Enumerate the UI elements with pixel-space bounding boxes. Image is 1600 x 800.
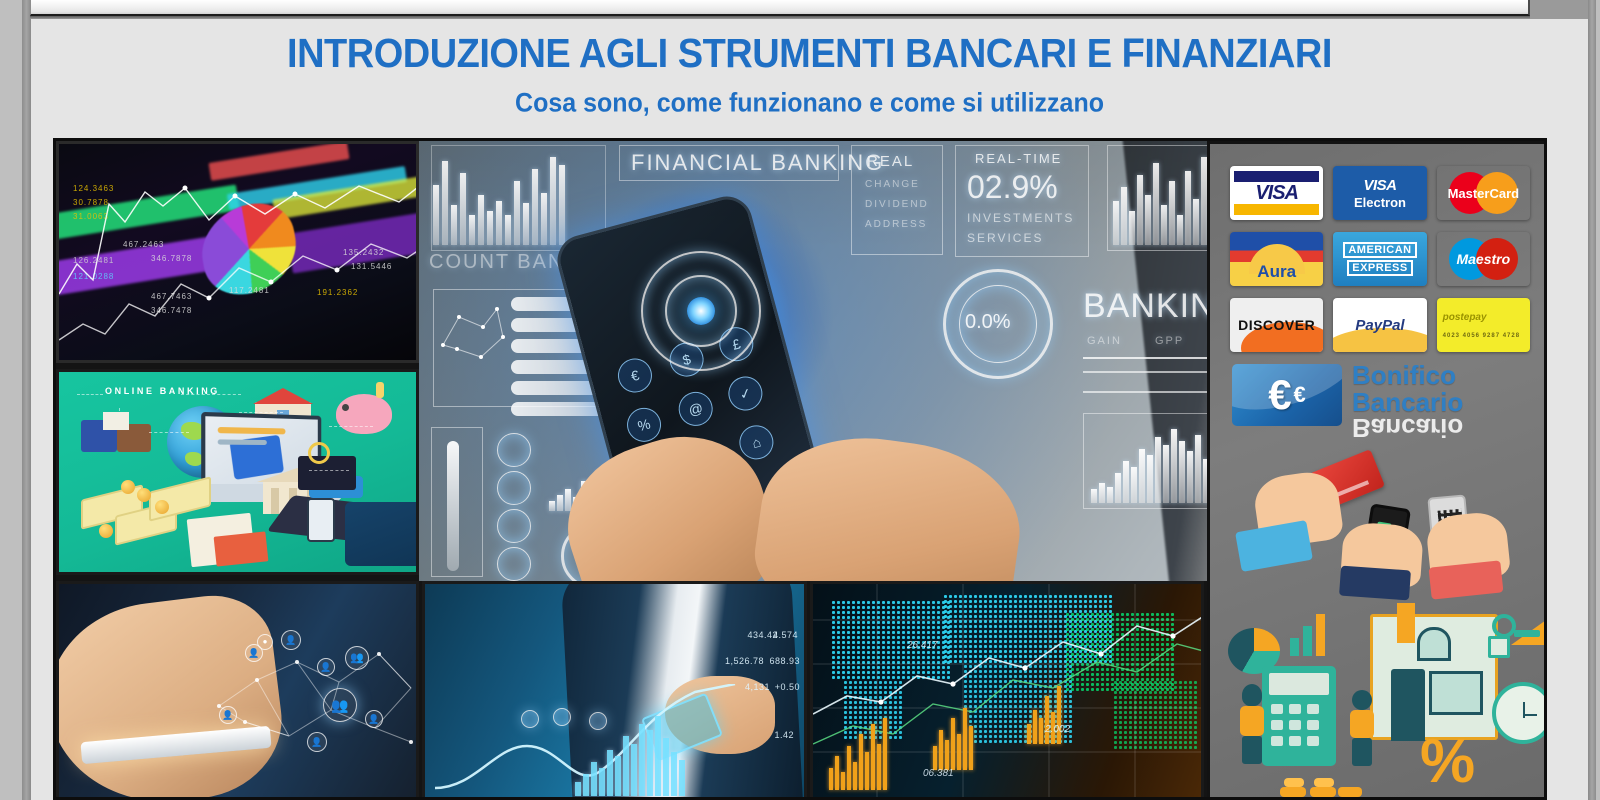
bonifico-text: Bonifico Bancario	[1352, 362, 1463, 416]
world-number-1: 26.417	[907, 640, 938, 651]
application-window: INTRODUZIONE AGLI STRUMENTI BANCARI E FI…	[0, 0, 1600, 800]
bonifico-reflection: Bancario	[1352, 414, 1463, 441]
hud-label-real-line-1: CHANGE	[865, 179, 920, 190]
price-sparklines	[59, 144, 419, 363]
world-market-image: 26.417 2.002 06.381	[810, 581, 1204, 800]
network-node-6[interactable]: 👤	[307, 732, 327, 752]
image-collage: COUNT BANKING FINANCIAL BANKING REAL CHA…	[53, 138, 1547, 800]
hud-label-financial-banking: FINANCIAL BANKING	[631, 150, 884, 176]
network-links	[179, 624, 419, 794]
postepay-label: postepay	[1443, 312, 1487, 323]
hud-label-real: REAL	[867, 153, 914, 170]
euro-symbol-small: €	[1294, 382, 1306, 408]
hud-label-realtime-title: REAL-TIME	[975, 151, 1062, 166]
payment-methods-column: VISA VISA Electron MasterCard	[1207, 141, 1547, 800]
candlestick-chart-left	[829, 716, 887, 790]
window-left-rail	[22, 0, 31, 800]
network-node-3[interactable]: 👤	[317, 658, 335, 676]
visa-electron-line1: VISA	[1363, 177, 1396, 194]
amex-line1: AMERICAN	[1343, 242, 1416, 258]
hud-vertical-slider[interactable]	[447, 441, 459, 571]
percent-symbol: %	[1420, 726, 1475, 797]
calculator-icon	[1262, 666, 1336, 766]
aura-label: Aura	[1257, 262, 1296, 282]
biz-number-4: 688.93	[769, 656, 800, 666]
mobile-phone-icon	[307, 498, 335, 542]
bonifico-line1: Bonifico	[1352, 362, 1463, 389]
euro-symbol-large: €	[1268, 371, 1291, 419]
online-banking-infographic-image: ONLINE BANKING	[56, 369, 419, 575]
phone-key-5[interactable]: @	[675, 388, 717, 430]
bonifico-line2: Bancario	[1352, 389, 1463, 416]
biz-number-6: +0.50	[775, 682, 800, 692]
biz-icon-3	[589, 712, 607, 730]
toolbar-strip[interactable]	[30, 0, 1530, 16]
presentation-slide: INTRODUZIONE AGLI STRUMENTI BANCARI E FI…	[31, 19, 1588, 800]
screen-dark-icon	[298, 456, 356, 490]
hud-label-gpp: GPP	[1155, 335, 1184, 347]
card-logo-postepay[interactable]: postepay 4023 4056 9287 4728	[1437, 298, 1530, 352]
window-right-margin	[1596, 0, 1600, 800]
person-left	[1236, 684, 1266, 768]
page-title: INTRODUZIONE AGLI STRUMENTI BANCARI E FI…	[31, 31, 1588, 77]
hud-value-realtime: 02.9%	[967, 169, 1058, 206]
candlestick-chart-mid	[933, 700, 973, 770]
hud-constellation	[437, 297, 509, 401]
maestro-label: Maestro	[1456, 251, 1510, 267]
card-logo-discover[interactable]: DISCOVER	[1230, 298, 1323, 352]
payment-methods-hands	[1224, 452, 1540, 592]
piggy-bank-icon	[336, 394, 392, 434]
person-right	[1346, 690, 1376, 770]
network-node-8[interactable]: 👤	[219, 706, 237, 724]
network-node-7[interactable]: 👤	[365, 710, 383, 728]
hud-label-real-line-2: DIVIDEND	[865, 199, 929, 210]
sleeve-blue	[1235, 520, 1313, 572]
amex-line2: EXPRESS	[1347, 260, 1412, 276]
world-number-2: 2.002	[1045, 724, 1070, 735]
card-logo-mastercard[interactable]: MasterCard	[1437, 166, 1530, 220]
payment-cards-grid: VISA VISA Electron MasterCard	[1230, 166, 1530, 352]
coins-stack	[1280, 767, 1364, 797]
clock-icon	[1492, 682, 1547, 744]
visa-label: VISA	[1255, 182, 1298, 205]
window-left-margin	[0, 0, 22, 800]
mortgage-illustration: %	[1220, 590, 1547, 795]
network-node-4[interactable]: 👥	[345, 646, 369, 670]
hud-label-realtime-line-2: SERVICES	[967, 231, 1043, 245]
hud-bar-chart-1	[433, 155, 565, 245]
biz-number-3: 1,526.78	[725, 656, 764, 666]
window-right-rail	[1588, 0, 1596, 800]
hud-label-gain: GAIN	[1087, 335, 1122, 347]
biz-number-2: 4.574	[773, 630, 798, 640]
businessman-growth-image: 434.42 4.574 1,526.78 688.93 4,131 +0.50…	[422, 581, 807, 800]
hud-icon-circle-3[interactable]	[497, 509, 531, 543]
hud-gauge-value: 0.0%	[965, 311, 1011, 334]
phone-key-1[interactable]: €	[614, 355, 656, 397]
mortgage-bar-chart	[1290, 614, 1325, 656]
card-logo-paypal[interactable]: PayPal	[1333, 298, 1426, 352]
digital-network-image: 👤 👤 👤 👥 ● 👤 👤 👤 👥	[56, 581, 419, 800]
page-subtitle: Cosa sono, come funzionano e come si uti…	[31, 88, 1588, 119]
attic-window-icon	[1417, 627, 1451, 661]
network-node-center[interactable]: 👥	[323, 688, 357, 722]
window-icon	[1429, 671, 1483, 715]
visa-electron-line2: Electron	[1354, 195, 1406, 210]
biz-number-7: 1.42	[774, 730, 794, 740]
phone-ring-core	[687, 297, 715, 325]
world-number-3: 06.381	[923, 768, 954, 779]
keys-icon	[1486, 608, 1544, 660]
hud-label-real-line-3: ADDRESS	[865, 219, 927, 230]
financial-data-chart-image: 124.3463 30.7878 31.0063 126.2481 121.02…	[56, 141, 419, 363]
banknote-3	[149, 476, 211, 521]
card-logo-visa[interactable]: VISA	[1230, 166, 1323, 220]
discover-label: DISCOVER	[1238, 317, 1315, 333]
card-logo-american-express[interactable]: AMERICAN EXPRESS	[1333, 232, 1426, 286]
euro-logo: € €	[1232, 364, 1342, 426]
card-logo-visa-electron[interactable]: VISA Electron	[1333, 166, 1426, 220]
document-icon	[103, 412, 129, 430]
title-block: INTRODUZIONE AGLI STRUMENTI BANCARI E FI…	[31, 33, 1588, 118]
hud-icon-circle-2[interactable]	[497, 471, 531, 505]
refresh-icon	[308, 442, 330, 464]
card-logo-maestro[interactable]: Maestro	[1437, 232, 1530, 286]
paypal-label: PayPal	[1355, 317, 1404, 334]
postepay-number: 4023 4056 9287 4728	[1443, 333, 1520, 339]
chimney-icon	[1397, 603, 1415, 643]
phone-key-6[interactable]: ✓	[725, 373, 767, 415]
biz-number-5: 4,131	[745, 682, 770, 692]
card-logo-aura[interactable]: Aura	[1230, 232, 1323, 286]
hud-icon-circle-4[interactable]	[497, 547, 531, 581]
card-orange-icon	[214, 531, 269, 566]
mastercard-label: MasterCard	[1448, 186, 1520, 201]
hud-label-realtime-line-1: INVESTMENTS	[967, 211, 1074, 225]
hand-typing	[345, 502, 419, 566]
house-icon	[1370, 614, 1498, 740]
network-node-5[interactable]: ●	[257, 634, 273, 650]
biz-icon-2	[553, 708, 571, 726]
network-node-2[interactable]: 👤	[281, 630, 301, 650]
biz-icon-1	[521, 710, 539, 728]
hud-icon-circle-1[interactable]	[497, 433, 531, 467]
bonifico-bancario-block: € € Bonifico Bancario Bancario	[1232, 360, 1532, 440]
